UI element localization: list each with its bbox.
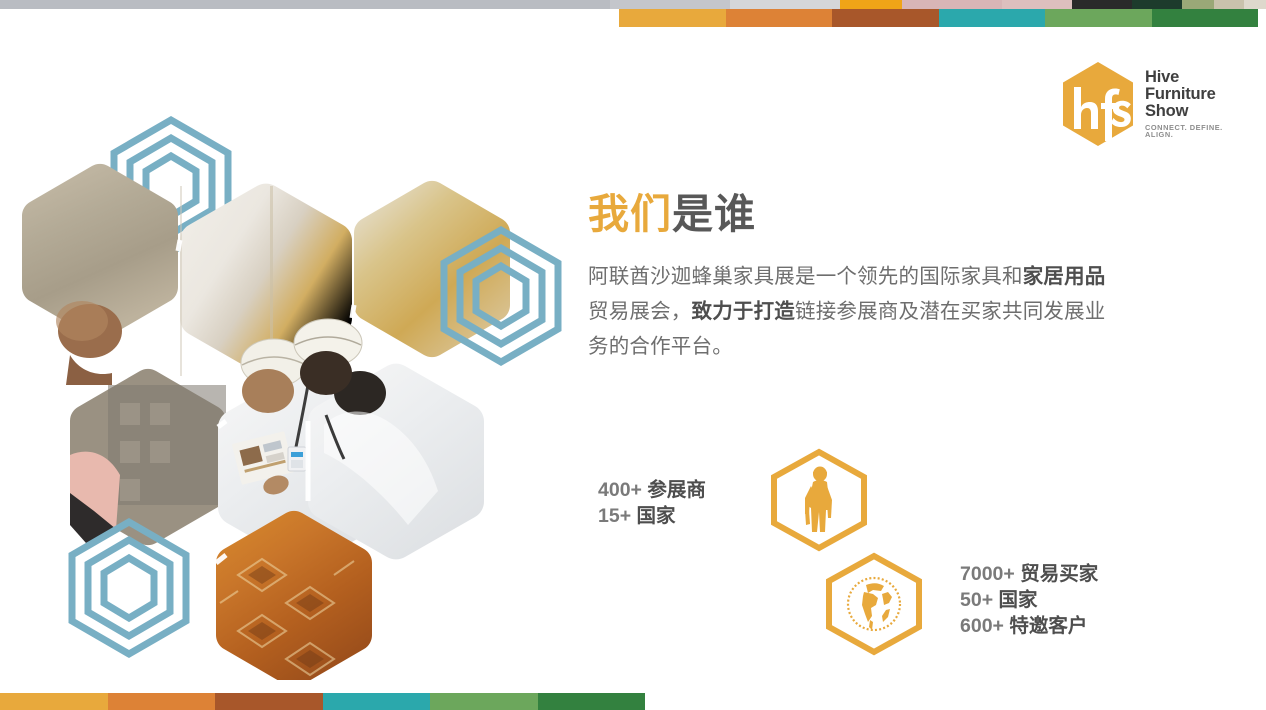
photo-sliver-segment xyxy=(1072,0,1132,9)
stat-exhibitors-number: 15+ xyxy=(598,505,631,527)
color-swatch-bottom-4 xyxy=(323,693,431,710)
logo-line-2: Furniture xyxy=(1145,86,1240,103)
page-title: 我们是谁 xyxy=(588,180,756,240)
page-title-accent: 我们 xyxy=(588,191,672,237)
stat-buyers-number: 7000+ xyxy=(960,563,1015,585)
color-swatch-top-3 xyxy=(832,9,939,27)
hex-outline-bottom-left xyxy=(72,522,186,654)
logo-wordmark: Hive Furniture Show CONNECT. DEFINE. ALI… xyxy=(1145,69,1240,139)
stat-buyers-number: 600+ xyxy=(960,615,1004,637)
photo-sliver-segment xyxy=(1132,0,1182,9)
stat-exhibitors-line: 400+ 参展商 xyxy=(598,478,706,504)
photo-sliver-segment xyxy=(610,0,730,9)
color-swatch-top-6 xyxy=(1152,9,1259,27)
color-swatch-top-5 xyxy=(1045,9,1152,27)
color-swatch-top-4 xyxy=(939,9,1046,27)
photo-sliver-segment xyxy=(1182,0,1214,9)
photo-sliver-segment xyxy=(1214,0,1244,9)
logo-line-1: Hive xyxy=(1145,69,1240,86)
photo-sliver-segment xyxy=(0,0,610,9)
logo-line-3: Show xyxy=(1145,103,1240,120)
stat-buyers-line: 600+ 特邀客户 xyxy=(960,614,1098,640)
stat-buyers-number: 50+ xyxy=(960,589,993,611)
stat-exhibitors-number: 400+ xyxy=(598,479,642,501)
page-title-rest: 是谁 xyxy=(672,191,756,237)
top-photo-sliver xyxy=(0,0,1266,9)
photo-sliver-segment xyxy=(730,0,840,9)
stat-buyers-label: 国家 xyxy=(999,589,1038,611)
stat-buyers-line: 7000+ 贸易买家 xyxy=(960,562,1098,588)
person-icon xyxy=(765,448,873,552)
globe-icon xyxy=(820,552,928,656)
stat-buyers-line: 50+ 国家 xyxy=(960,588,1098,614)
stat-buyers-label: 贸易买家 xyxy=(1020,563,1098,585)
body-text-emphasis: 家居用品 xyxy=(1023,265,1106,288)
color-swatch-bottom-2 xyxy=(108,693,216,710)
body-text-emphasis: 致力于打造 xyxy=(692,300,796,323)
body-text-run: 阿联酋沙迦蜂巢家具展是一个领先的国际家具和 xyxy=(588,265,1023,288)
photo-sliver-segment xyxy=(902,0,1002,9)
photo-sliver-segment xyxy=(840,0,902,9)
stat-exhibitors-label: 国家 xyxy=(637,505,676,527)
collage-photo-gold-panel xyxy=(354,181,510,357)
logo-tagline: CONNECT. DEFINE. ALIGN. xyxy=(1145,124,1240,139)
stat-buyers-label: 特邀客户 xyxy=(1009,615,1087,637)
color-swatch-top-1 xyxy=(619,9,726,27)
brand-logo: Hive Furniture Show CONNECT. DEFINE. ALI… xyxy=(1060,60,1240,148)
body-paragraph: 阿联酋沙迦蜂巢家具展是一个领先的国际家具和家居用品贸易展会，致力于打造链接参展商… xyxy=(588,260,1108,365)
stats-block-exhibitors: 400+ 参展商15+ 国家 xyxy=(598,478,706,530)
stat-exhibitors-line: 15+ 国家 xyxy=(598,504,706,530)
stat-exhibitors-label: 参展商 xyxy=(647,479,706,501)
slide-root: Hive Furniture Show CONNECT. DEFINE. ALI… xyxy=(0,0,1266,710)
color-band-top xyxy=(619,9,1258,27)
stats-block-buyers: 7000+ 贸易买家50+ 国家600+ 特邀客户 xyxy=(960,562,1098,640)
color-swatch-bottom-5 xyxy=(430,693,538,710)
hexagon-photo-collage xyxy=(8,55,578,680)
photo-sliver-segment xyxy=(1002,0,1072,9)
color-swatch-top-2 xyxy=(726,9,833,27)
color-swatch-bottom-1 xyxy=(0,693,108,710)
photo-sliver-segment xyxy=(1244,0,1266,9)
color-swatch-bottom-3 xyxy=(215,693,323,710)
body-text-run: 贸易展会， xyxy=(588,300,692,323)
color-swatch-bottom-6 xyxy=(538,693,646,710)
hfs-hexagon-logo-icon xyxy=(1060,61,1136,147)
color-band-bottom xyxy=(0,693,645,710)
